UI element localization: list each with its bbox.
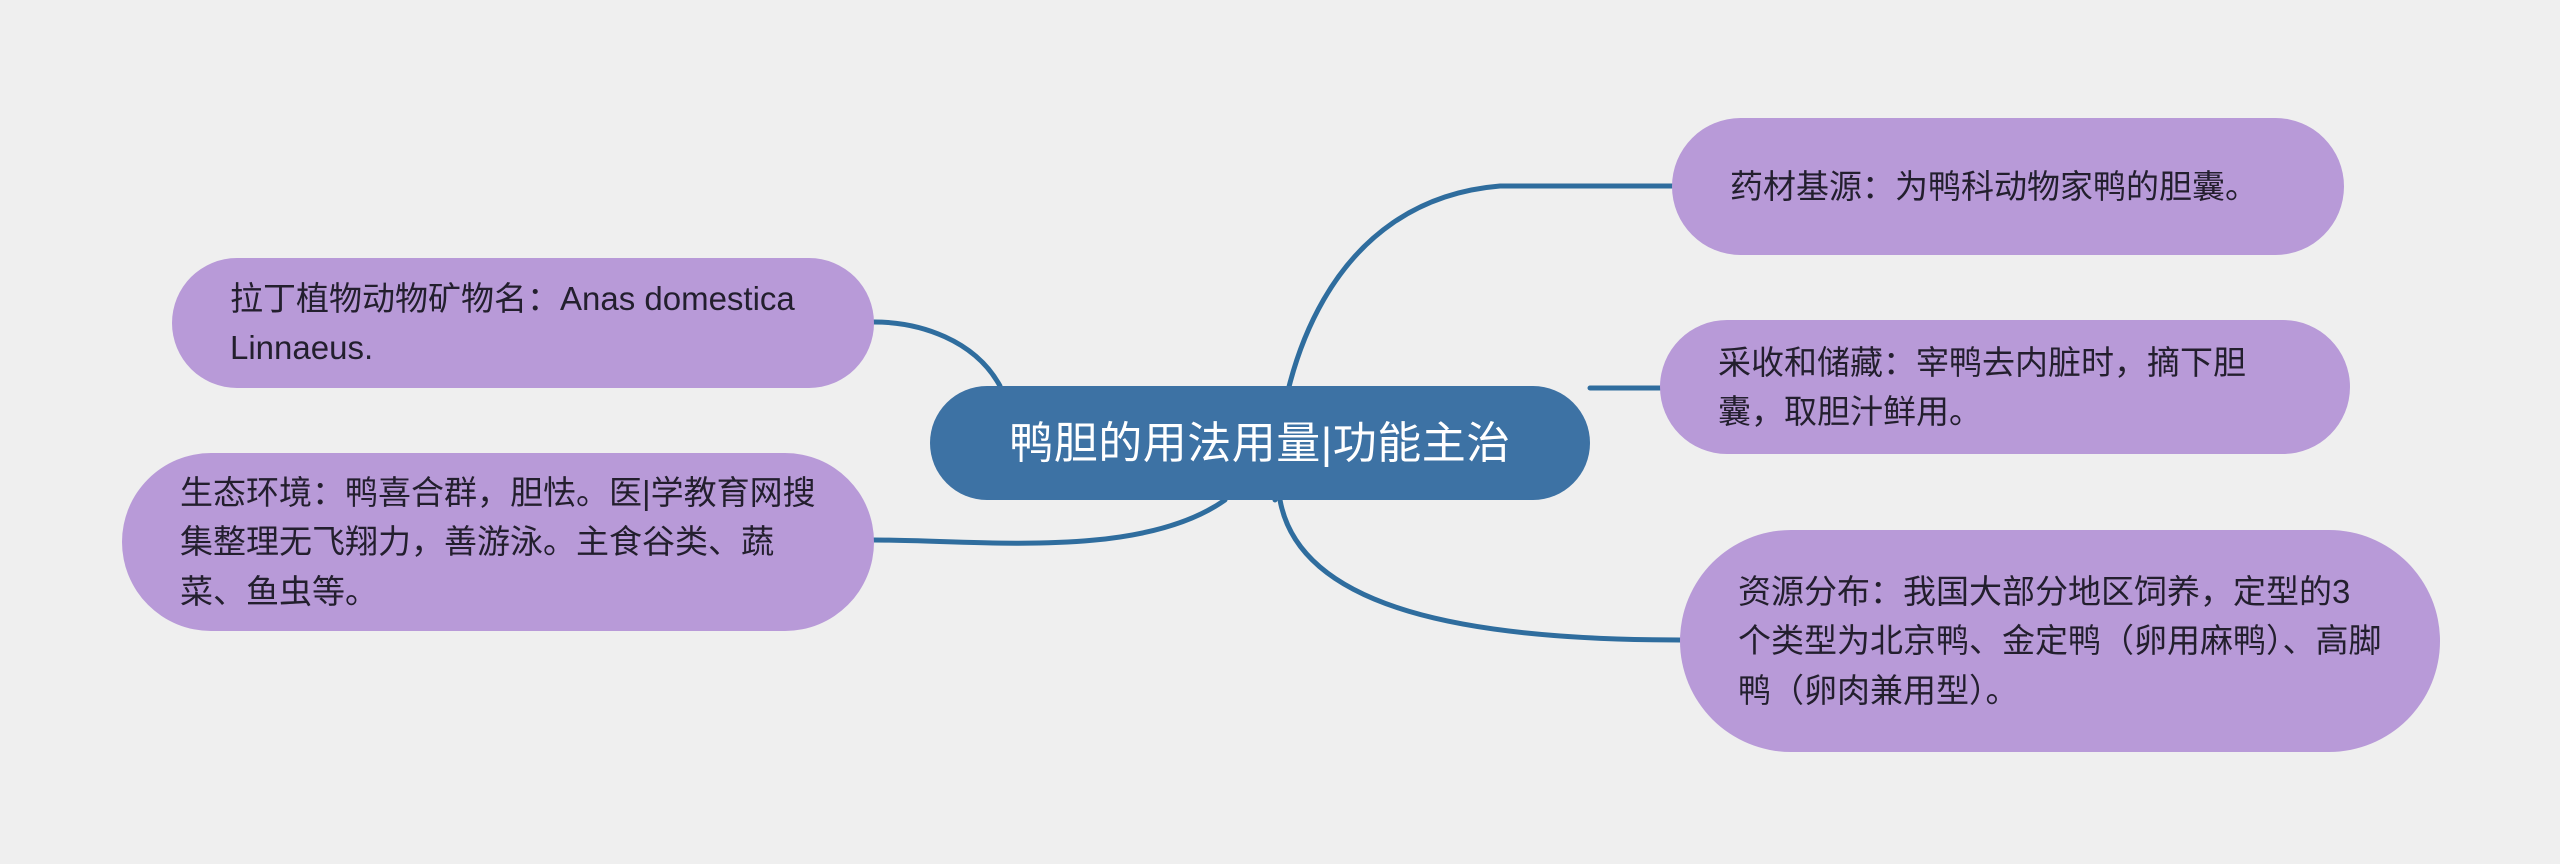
mindmap-node-latin-name[interactable]: 拉丁植物动物矿物名：Anas domestica Linnaeus. <box>172 258 874 388</box>
mindmap-node-ecology[interactable]: 生态环境：鸭喜合群，胆怯。医|学教育网搜集整理无飞翔力，善游泳。主食谷类、蔬菜、… <box>122 453 874 631</box>
mindmap-node-distribution[interactable]: 资源分布：我国大部分地区饲养，定型的3个类型为北京鸭、金定鸭（卵用麻鸭）、高脚鸭… <box>1680 530 2440 752</box>
mindmap-root-node[interactable]: 鸭胆的用法用量|功能主治 <box>930 386 1590 500</box>
mindmap-node-ecology-label: 生态环境：鸭喜合群，胆怯。医|学教育网搜集整理无飞翔力，善游泳。主食谷类、蔬菜、… <box>122 468 874 617</box>
mindmap-canvas: 拉丁植物动物矿物名：Anas domestica Linnaeus. 生态环境：… <box>0 0 2560 864</box>
mindmap-node-harvest[interactable]: 采收和储藏：宰鸭去内脏时，摘下胆囊，取胆汁鲜用。 <box>1660 320 2350 454</box>
connector-ecology <box>874 500 1225 543</box>
mindmap-node-distribution-label: 资源分布：我国大部分地区饲养，定型的3个类型为北京鸭、金定鸭（卵用麻鸭）、高脚鸭… <box>1680 567 2440 716</box>
mindmap-root-label: 鸭胆的用法用量|功能主治 <box>930 416 1590 471</box>
mindmap-node-source-label: 药材基源：为鸭科动物家鸭的胆囊。 <box>1672 162 2344 212</box>
connector-distribution <box>1280 500 1680 640</box>
mindmap-node-source[interactable]: 药材基源：为鸭科动物家鸭的胆囊。 <box>1672 118 2344 255</box>
mindmap-node-harvest-label: 采收和储藏：宰鸭去内脏时，摘下胆囊，取胆汁鲜用。 <box>1660 338 2350 437</box>
mindmap-node-latin-name-label: 拉丁植物动物矿物名：Anas domestica Linnaeus. <box>172 274 874 373</box>
connector-latin-name <box>874 322 1000 386</box>
